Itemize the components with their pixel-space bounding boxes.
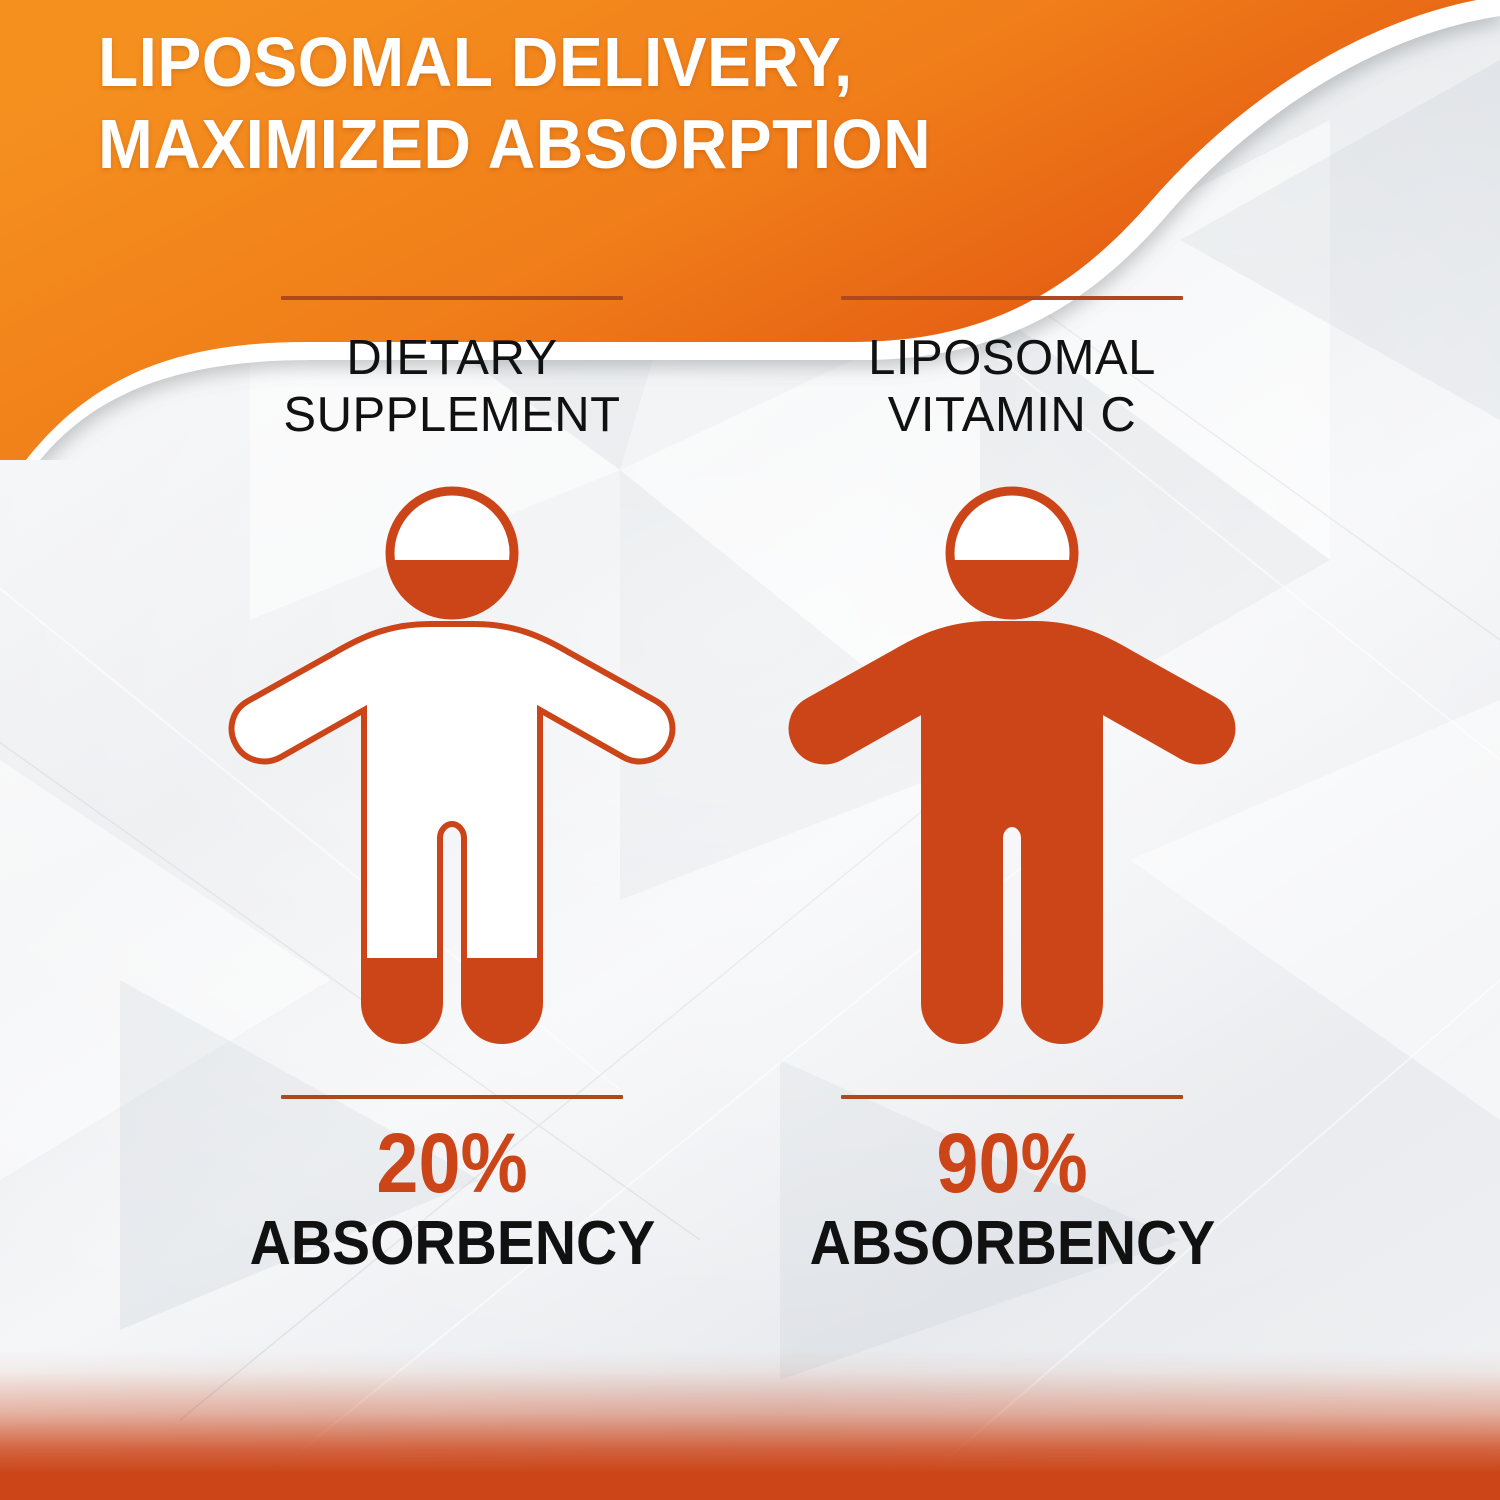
pictogram-fill-level [786,613,1238,1073]
percent-caption-liposomal-vitamin-c: ABSORBENCY [809,1211,1215,1276]
percent-caption-dietary-supplement: ABSORBENCY [249,1211,655,1276]
comparison-column-liposomal-vitamin-c: LIPOSOMAL VITAMIN C [786,296,1238,1276]
divider-line-top [281,296,623,300]
column-label-liposomal-vitamin-c: LIPOSOMAL VITAMIN C [868,330,1156,445]
pictogram-head [944,491,1080,630]
comparison-columns: DIETARY SUPPLEMENT [0,0,1500,1500]
percent-value-liposomal-vitamin-c: 90% [936,1121,1087,1205]
percent-value-dietary-supplement: 20% [376,1121,527,1205]
pictogram-liposomal-vitamin-c [786,473,1238,1091]
pictogram-body [786,613,1238,1073]
pictogram-head [384,491,520,630]
infographic-poster: LIPOSOMAL DELIVERY, MAXIMIZED ABSORPTION… [0,0,1500,1500]
column-label-dietary-supplement: DIETARY SUPPLEMENT [283,330,620,445]
pictogram-body [226,624,678,1073]
divider-line-top [841,296,1183,300]
divider-line-bottom [281,1095,623,1099]
pictogram-fill-level [226,958,678,1073]
divider-line-bottom [841,1095,1183,1099]
comparison-column-dietary-supplement: DIETARY SUPPLEMENT [226,296,678,1276]
pictogram-dietary-supplement [226,473,678,1091]
footer-orange-fade [0,1350,1500,1500]
